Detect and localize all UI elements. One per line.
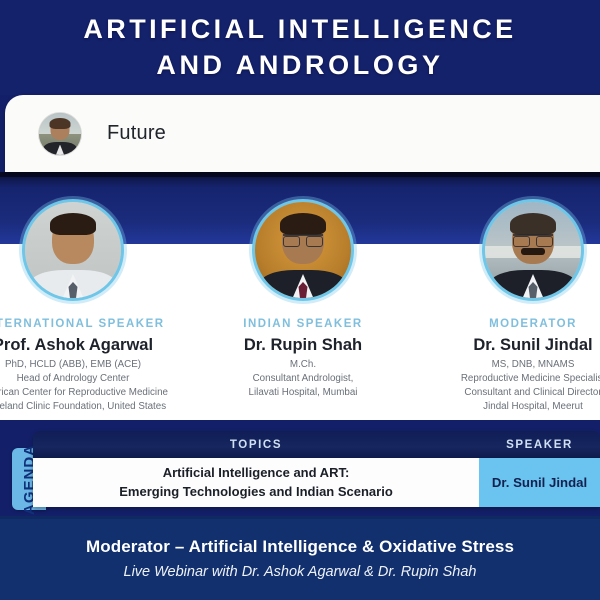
topic-line-1: Artificial Intelligence and ART: bbox=[119, 464, 393, 483]
speaker-role-label: INDIAN SPEAKER bbox=[243, 318, 362, 330]
speaker-credentials: PhD, HCLD (ABB), EMB (ACE) Head of Andro… bbox=[0, 358, 168, 414]
speaker-credential-line: M.Ch. bbox=[249, 358, 358, 372]
column-header-topics: TOPICS bbox=[33, 431, 479, 458]
table-row: Artificial Intelligence and ART: Emergin… bbox=[33, 458, 600, 507]
avatar-hair bbox=[50, 118, 71, 129]
header-title-band: ARTIFICIAL INTELLIGENCE AND ANDROLOGY bbox=[0, 0, 600, 95]
speaker-credential-line: PhD, HCLD (ABB), EMB (ACE) bbox=[0, 358, 168, 372]
speaker-name: Dr. Rupin Shah bbox=[244, 336, 362, 355]
speakers-section: INTERNATIONAL SPEAKER Prof. Ashok Agarwa… bbox=[0, 172, 600, 420]
photo-glasses bbox=[283, 234, 323, 246]
speaker-name: Dr. Sunil Jindal bbox=[473, 336, 592, 355]
speaker-credential-line: Jindal Hospital, Meerut bbox=[461, 400, 600, 414]
agenda-table-header: TOPICS SPEAKER bbox=[33, 431, 600, 458]
speaker-credential-line: Cleveland Clinic Foundation, United Stat… bbox=[0, 400, 168, 414]
avatar bbox=[39, 113, 81, 155]
speaker-credential-line: Reproductive Medicine Specialist bbox=[461, 372, 600, 386]
caption-title: Moderator – Artificial Intelligence & Ox… bbox=[86, 537, 514, 557]
caption-divider bbox=[0, 516, 600, 519]
page-title-line-2: AND ANDROLOGY bbox=[156, 48, 443, 84]
agenda-table: TOPICS SPEAKER Artificial Intelligence a… bbox=[33, 431, 600, 507]
speaker-credential-line: MS, DNB, MNAMS bbox=[461, 358, 600, 372]
future-session-card[interactable]: Future bbox=[5, 95, 600, 172]
speaker-card-indian: INDIAN SPEAKER Dr. Rupin Shah M.Ch. Cons… bbox=[188, 172, 418, 420]
speaker-card-international: INTERNATIONAL SPEAKER Prof. Ashok Agarwa… bbox=[0, 172, 188, 420]
caption-bar: Moderator – Artificial Intelligence & Ox… bbox=[0, 516, 600, 600]
speaker-photo-ashok-agarwal bbox=[22, 199, 124, 301]
page-title-line-1: ARTIFICIAL INTELLIGENCE bbox=[83, 12, 516, 48]
future-label: Future bbox=[107, 122, 166, 145]
cell-topic: Artificial Intelligence and ART: Emergin… bbox=[33, 458, 479, 507]
cell-speaker: Dr. Sunil Jindal bbox=[479, 458, 600, 507]
speaker-card-moderator: MODERATOR Dr. Sunil Jindal MS, DNB, MNAM… bbox=[418, 172, 600, 420]
promo-graphic: ARTIFICIAL INTELLIGENCE AND ANDROLOGY IN… bbox=[0, 0, 600, 600]
speaker-credentials: M.Ch. Consultant Andrologist, Lilavati H… bbox=[249, 358, 358, 400]
speaker-credential-line: Consultant and Clinical Director bbox=[461, 386, 600, 400]
speaker-credentials: MS, DNB, MNAMS Reproductive Medicine Spe… bbox=[461, 358, 600, 414]
speaker-credential-line: Lilavati Hospital, Mumbai bbox=[249, 386, 358, 400]
photo-hair bbox=[280, 213, 326, 235]
photo-glasses bbox=[513, 234, 553, 246]
speaker-role-label: INTERNATIONAL SPEAKER bbox=[0, 318, 165, 330]
speaker-credential-line: American Center for Reproductive Medicin… bbox=[0, 386, 168, 400]
photo-mustache bbox=[521, 248, 545, 255]
speaker-photo-sunil-jindal bbox=[482, 199, 584, 301]
topic-line-2: Emerging Technologies and Indian Scenari… bbox=[119, 483, 393, 502]
speaker-photo-rupin-shah bbox=[252, 199, 354, 301]
caption-subtitle: Live Webinar with Dr. Ashok Agarwal & Dr… bbox=[124, 564, 477, 580]
photo-hair bbox=[50, 213, 96, 235]
agenda-section: AGENDA TOPICS SPEAKER Artificial Intelli… bbox=[0, 428, 600, 516]
speaker-credential-line: Consultant Andrologist, bbox=[249, 372, 358, 386]
column-header-speaker: SPEAKER bbox=[479, 431, 600, 458]
speakers-list: INTERNATIONAL SPEAKER Prof. Ashok Agarwa… bbox=[0, 172, 600, 420]
speaker-role-label: MODERATOR bbox=[489, 318, 577, 330]
speaker-name: Prof. Ashok Agarwal bbox=[0, 336, 153, 355]
speaker-credential-line: Head of Andrology Center bbox=[0, 372, 168, 386]
photo-hair bbox=[510, 213, 556, 235]
